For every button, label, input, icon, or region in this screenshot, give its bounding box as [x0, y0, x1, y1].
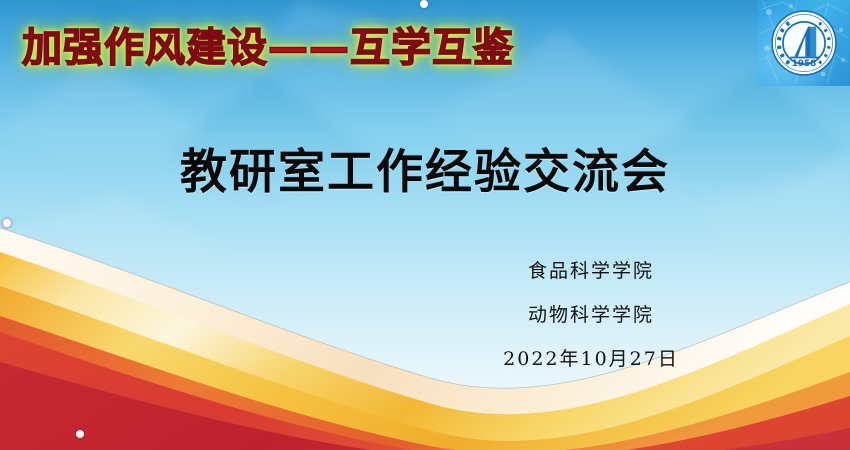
department-line-1: 食品科学学院	[456, 262, 726, 281]
decorative-dot-left	[2, 218, 12, 228]
page-title: 教研室工作经验交流会	[0, 146, 850, 200]
banner-headline: 加强作风建设——互学互鉴	[22, 28, 514, 68]
logo-panel: 1958	[757, 0, 850, 86]
decorative-dot-top	[420, 0, 428, 8]
department-line-2: 动物科学学院	[456, 306, 726, 325]
university-emblem-icon: 1958	[770, 9, 838, 77]
date-line: 2022年10月27日	[456, 350, 726, 369]
subtitle-block: 食品科学学院 动物科学学院 2022年10月27日	[456, 262, 726, 369]
svg-text:1958: 1958	[791, 59, 816, 69]
presentation-slide: 加强作风建设——互学互鉴	[0, 0, 850, 450]
decorative-dot-wave	[76, 430, 84, 438]
